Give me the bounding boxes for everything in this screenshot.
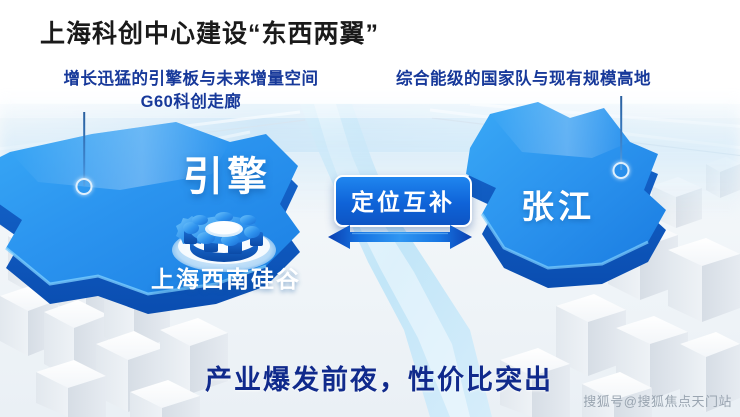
infographic-canvas: 引擎 <box>0 0 740 417</box>
bottom-slogan: 产业爆发前夜，性价比突出 <box>205 358 553 397</box>
annotation-left: 增长迅猛的引擎板与未来增量空间 G60科创走廊 <box>36 68 346 115</box>
annotation-left-line2: G60科创走廊 <box>36 91 346 114</box>
gear-3d-icon <box>160 176 290 284</box>
annotation-right: 综合能级的国家队与现有规模高地 <box>396 68 720 91</box>
pin-dot <box>76 178 93 195</box>
pin-stem <box>620 96 622 170</box>
annotation-left-line1: 增长迅猛的引擎板与未来增量空间 <box>64 70 319 88</box>
complementary-positioning-badge[interactable]: 定位互补 <box>334 175 472 227</box>
pin-dot <box>613 162 630 179</box>
watermark: 搜狐号@搜狐焦点天门站 <box>583 391 732 410</box>
annotation-right-line1: 综合能级的国家队与现有规模高地 <box>396 70 651 88</box>
pin-stem <box>83 112 85 186</box>
region-shape-zhangjiang[interactable] <box>452 92 740 322</box>
page-title: 上海科创中心建设“东西两翼” <box>40 14 379 50</box>
double-headed-arrow-icon <box>326 222 474 252</box>
